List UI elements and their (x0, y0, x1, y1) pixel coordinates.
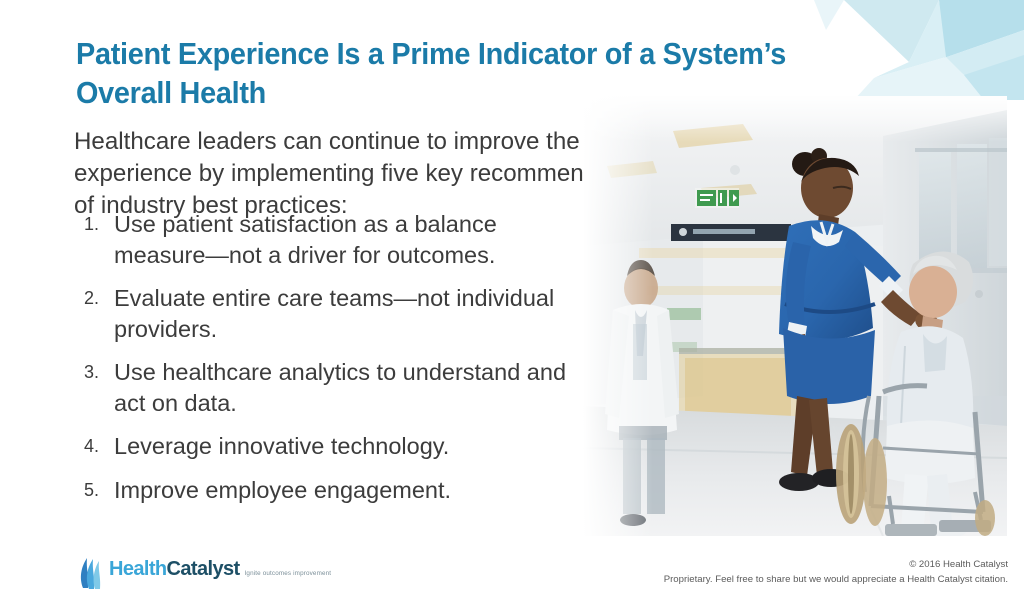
proprietary-line: Proprietary. Feel free to share but we w… (664, 573, 1008, 588)
logo-word-catalyst: Catalyst (167, 558, 240, 580)
copyright-line: © 2016 Health Catalyst (664, 558, 1008, 573)
health-catalyst-logo: HealthCatalyst Ignite outcomes improveme… (78, 556, 331, 590)
list-item: 3. Use healthcare analytics to understan… (84, 357, 594, 418)
list-item-text: Use healthcare analytics to understand a… (114, 357, 594, 418)
list-item: 5. Improve employee engagement. (84, 475, 594, 506)
list-item-text: Evaluate entire care teams—not individua… (114, 283, 594, 344)
list-item-text: Improve employee engagement. (114, 475, 594, 506)
list-item-number: 5. (84, 475, 114, 503)
exit-sign-icon (695, 188, 739, 208)
logo-tagline: Ignite outcomes improvement (245, 570, 332, 577)
recommendations-list: 1. Use patient satisfaction as a balance… (84, 209, 594, 518)
geometric-corner-accent (814, 0, 1024, 100)
list-item-number: 4. (84, 431, 114, 459)
hospital-corridor-photo (583, 96, 1007, 536)
list-item: 2. Evaluate entire care teams—not indivi… (84, 283, 594, 344)
flame-icon (78, 556, 104, 590)
list-item-text: Leverage innovative technology. (114, 431, 594, 462)
list-item: 1. Use patient satisfaction as a balance… (84, 209, 594, 270)
footer-copyright: © 2016 Health Catalyst Proprietary. Feel… (664, 558, 1008, 587)
wayfinding-sign (671, 224, 791, 241)
list-item: 4. Leverage innovative technology. (84, 431, 594, 462)
slide: Patient Experience Is a Prime Indicator … (0, 0, 1024, 599)
logo-word-health: Health (109, 558, 167, 580)
list-item-number: 1. (84, 209, 114, 237)
list-item-text: Use patient satisfaction as a balance me… (114, 209, 594, 270)
list-item-number: 3. (84, 357, 114, 385)
list-item-number: 2. (84, 283, 114, 311)
